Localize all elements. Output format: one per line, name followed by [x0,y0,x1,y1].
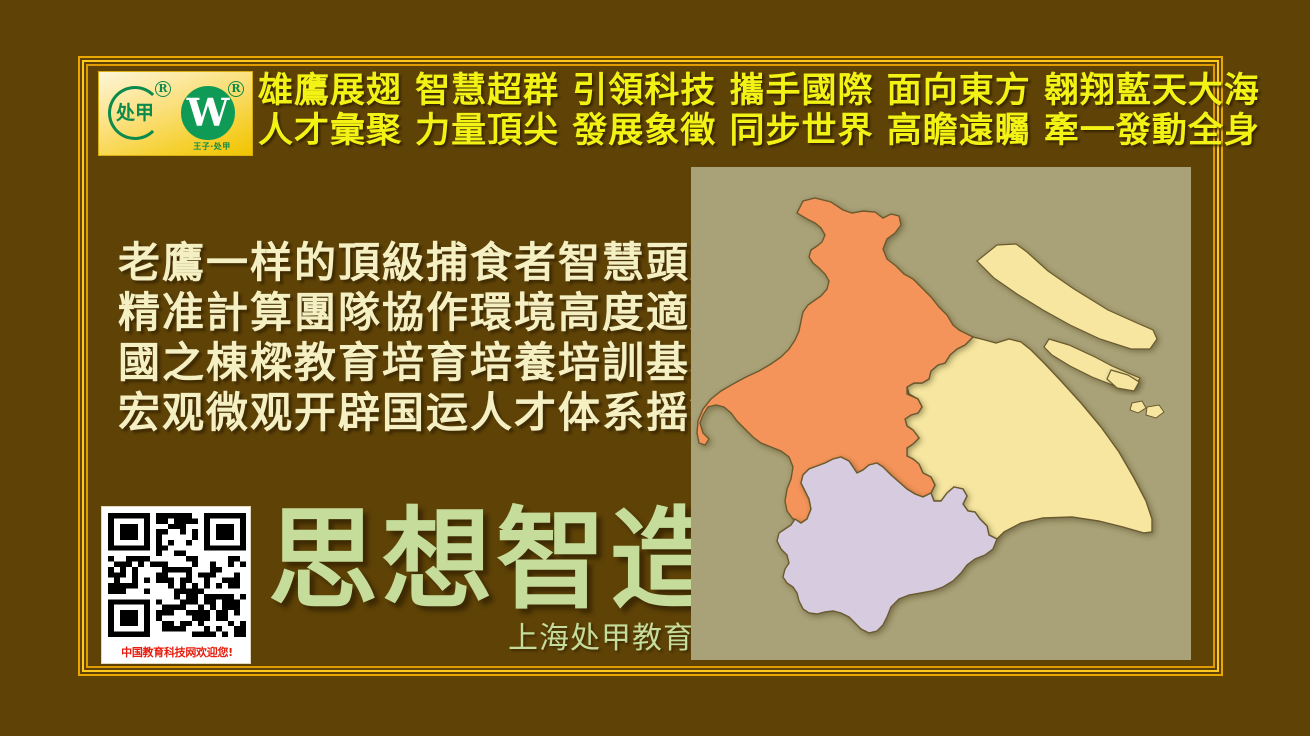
verse-line-3: 國之棟樑教育培育培養培訓基地 [118,338,678,388]
verse-line-1: 老鷹一样的頂級捕食者智慧頭腦 [118,238,678,288]
headline-banner: 雄鷹展翅 智慧超群 引領科技 攜手國際 面向東方 翱翔藍天大海 人才彙聚 力量頂… [258,71,1208,151]
organization-name: 上海处甲教育 [508,622,694,656]
verse-block: 老鷹一样的頂級捕食者智慧頭腦 精准計算團隊協作環境高度適應 國之棟樑教育培育培養… [118,238,678,438]
qr-code-block[interactable]: 中国教育科技网欢迎您! [101,506,251,664]
verse-line-2: 精准計算團隊協作環境高度適應 [118,288,678,338]
qr-code-caption: 中国教育科技网欢迎您! [102,647,252,659]
map-svg [691,167,1191,660]
shanghai-districts-map [691,167,1191,660]
page-title: 思想智造 [268,505,724,615]
headline-line-1: 雄鷹展翅 智慧超群 引領科技 攜手國際 面向東方 翱翔藍天大海 [258,71,1208,111]
registered-trademark-icon-2: R [228,81,244,97]
poster-canvas: 处甲 R W R 王子·处甲 雄鷹展翅 智慧超群 引領科技 攜手國際 面向東方 … [0,0,1310,736]
w-monogram-emblem-icon: W R [179,84,241,146]
brand-logo: 处甲 R W R 王子·处甲 [98,71,253,156]
logo-caption: 王子·处甲 [177,141,247,152]
chujia-circle-emblem-icon: 处甲 R [106,84,168,146]
qr-code-image [108,513,246,637]
registered-trademark-icon: R [155,81,171,97]
verse-line-4: 宏观微观开辟国运人才体系摇篮 [118,388,678,438]
headline-line-2: 人才彙聚 力量頂尖 發展象徵 同步世界 高瞻遠矚 牽一發動全身 [258,111,1208,151]
